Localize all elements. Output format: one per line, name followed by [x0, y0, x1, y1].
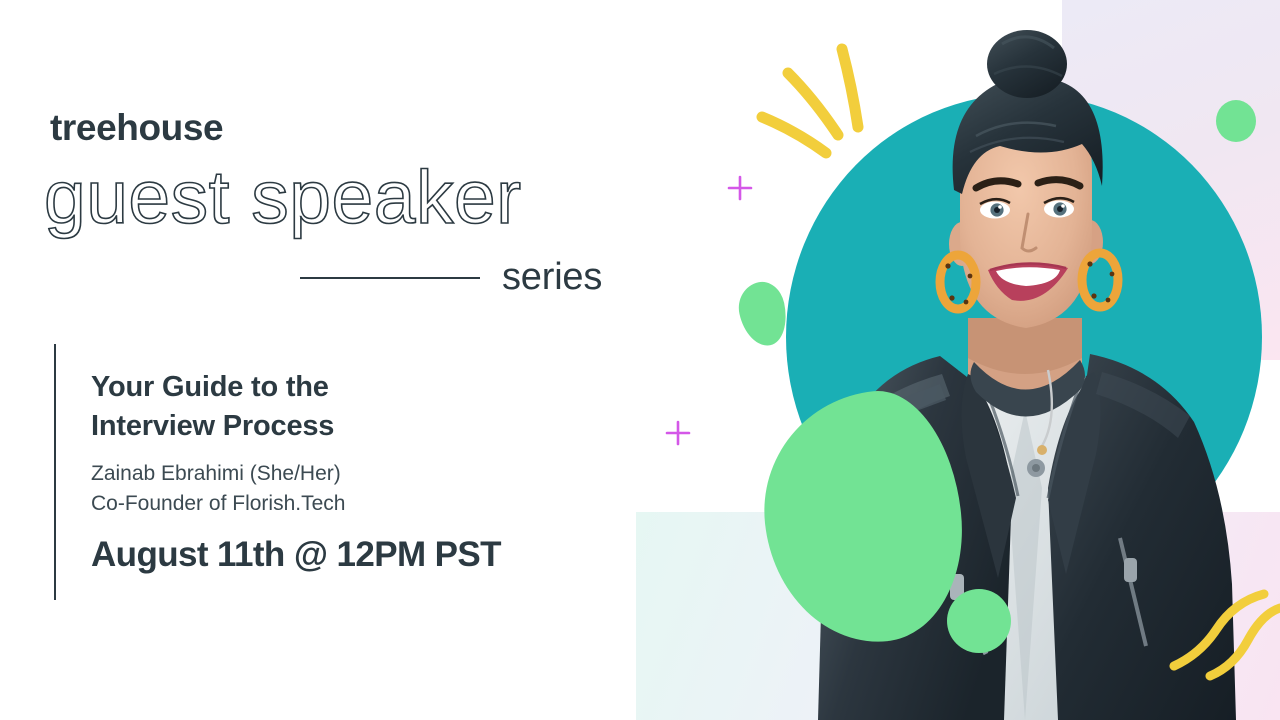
detail-accent-rule — [54, 344, 56, 600]
session-title-line-1: Your Guide to the — [91, 368, 611, 407]
yellow-burst-icon — [740, 35, 900, 175]
session-datetime: August 11th @ 12PM PST — [91, 535, 611, 575]
series-label: series — [502, 256, 602, 299]
series-row: series — [300, 256, 630, 299]
speaker-name: Zainab Ebrahimi (She/Her) — [91, 459, 611, 489]
speaker-role: Co-Founder of Florish.Tech — [91, 489, 611, 519]
magenta-plus-icon-top — [726, 174, 754, 202]
green-blob-shape-small — [734, 278, 792, 350]
green-circle-shape-bottom — [947, 589, 1011, 653]
session-title-line-2: Interview Process — [91, 407, 611, 446]
guest-speaker-headline: guest speaker — [44, 160, 522, 235]
magenta-plus-icon-middle — [664, 419, 692, 447]
content-column: treehouse guest speaker series Your Guid… — [0, 0, 660, 720]
promo-banner: treehouse guest speaker series Your Guid… — [0, 0, 1280, 720]
yellow-wave-icon — [1160, 580, 1280, 720]
session-title: Your Guide to the Interview Process — [91, 368, 611, 445]
series-divider — [300, 277, 480, 279]
treehouse-wordmark: treehouse — [50, 107, 223, 149]
session-details: Your Guide to the Interview Process Zain… — [91, 368, 611, 575]
